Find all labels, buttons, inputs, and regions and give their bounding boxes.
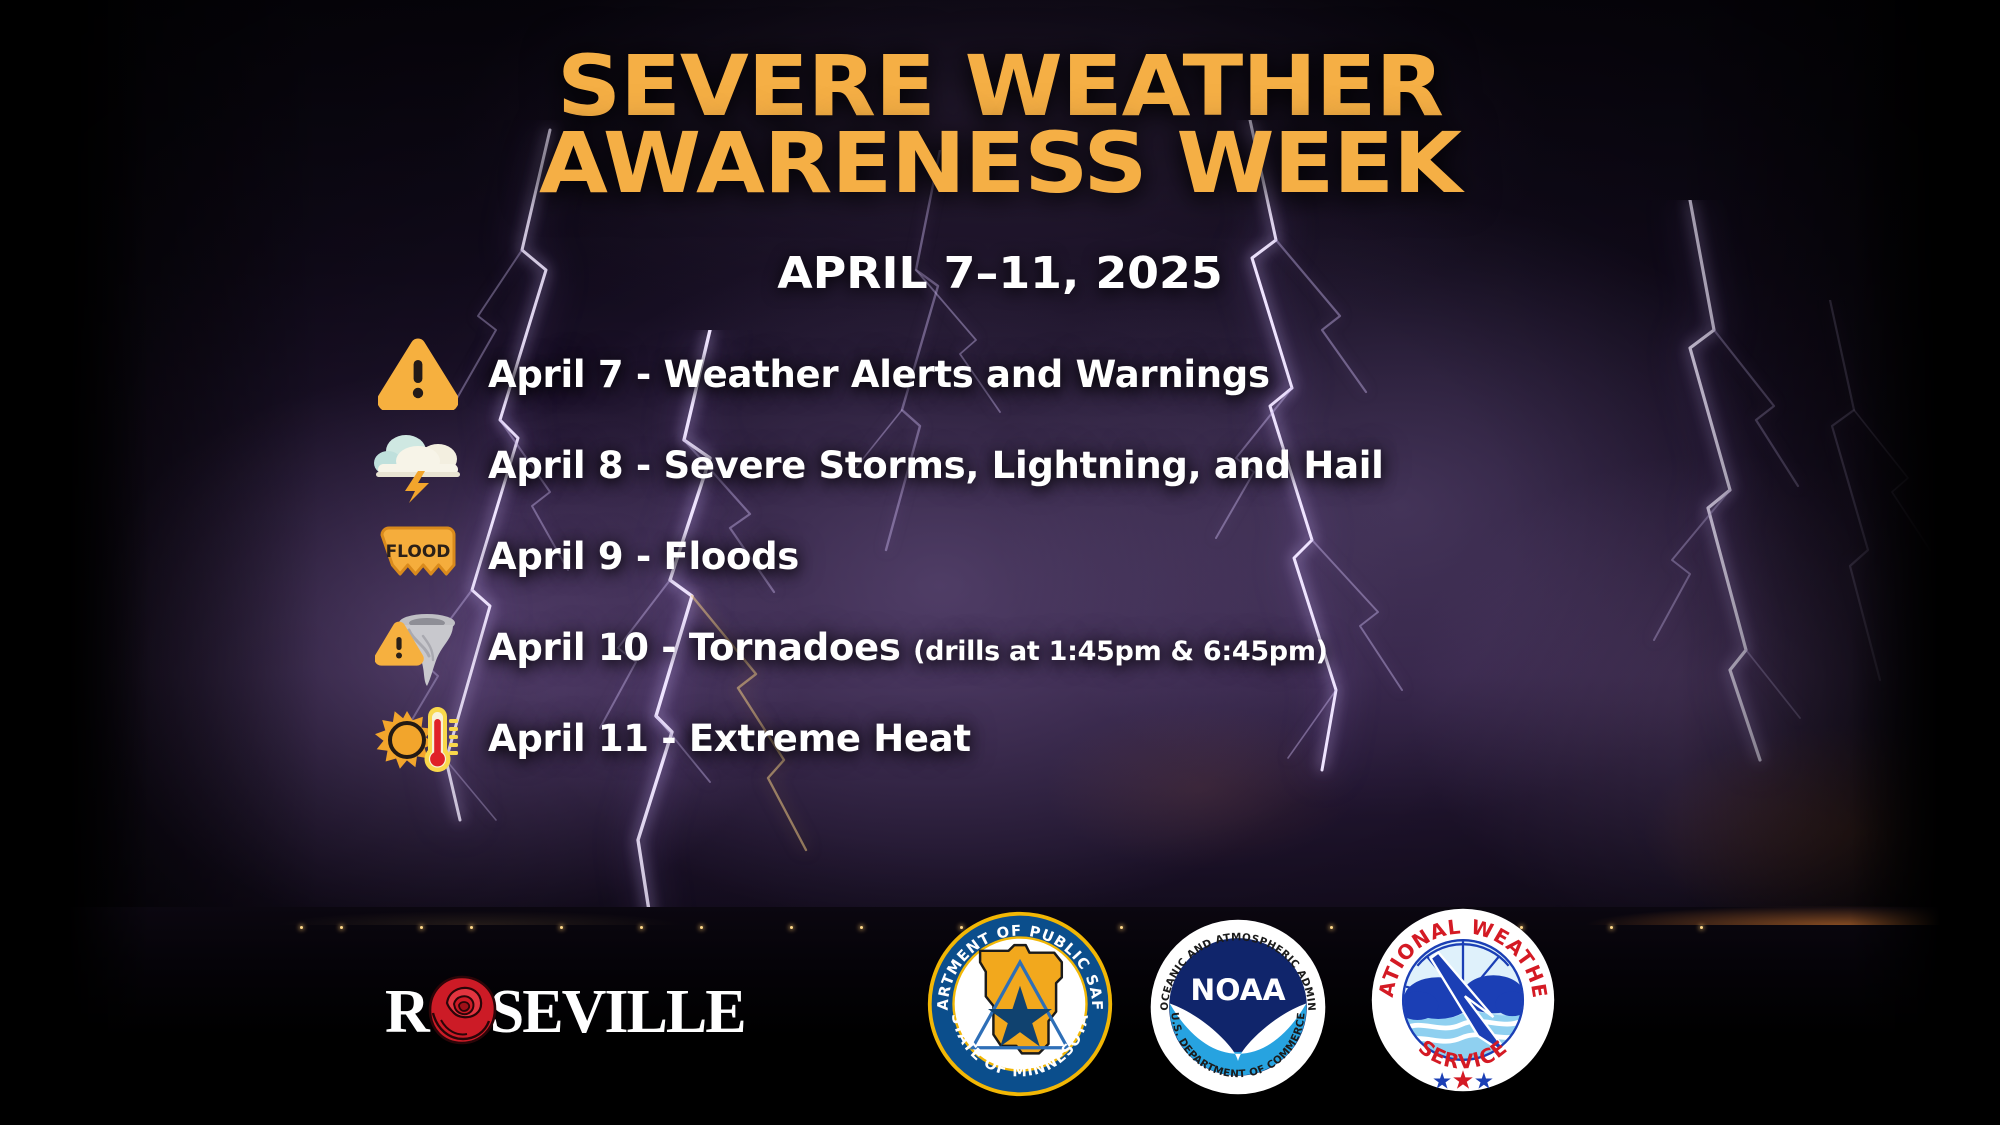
list-item-label: April 11 - Extreme Heat (466, 717, 971, 760)
schedule-list: April 7 - Weather Alerts and Warnings A (370, 330, 1550, 785)
poster-canvas: SEVERE WEATHER AWARENESS WEEK APRIL 7–11… (0, 0, 2000, 1125)
tornado-warning-icon (375, 606, 461, 688)
roseville-letters-seville: SEVILLE (490, 978, 745, 1046)
schedule-icon-slot (370, 699, 466, 777)
nws-seal-icon: NATIONAL WEATHER SERVICE (1368, 905, 1558, 1095)
schedule-icon-slot: FLOOD (370, 525, 466, 587)
schedule-icon-slot (370, 427, 466, 503)
headline-line-2: AWARENESS WEEK (0, 125, 2000, 202)
thermometer-icon (425, 707, 459, 772)
list-item-label: April 8 - Severe Storms, Lightning, and … (466, 444, 1384, 487)
list-item-label: April 9 - Floods (466, 535, 799, 578)
warning-triangle-icon (378, 338, 458, 410)
storm-cloud-lightning-icon (372, 427, 464, 503)
schedule-icon-slot (370, 338, 466, 410)
list-item: April 11 - Extreme Heat (370, 694, 1550, 782)
list-item-label: April 10 - Tornadoes (drills at 1:45pm &… (466, 626, 1328, 669)
list-item: April 10 - Tornadoes (drills at 1:45pm &… (370, 603, 1550, 691)
page-title: SEVERE WEATHER AWARENESS WEEK (0, 48, 2000, 203)
list-item-note: (drills at 1:45pm & 6:45pm) (913, 636, 1328, 667)
list-item-title: April 10 - Tornadoes (488, 626, 901, 669)
list-item: April 8 - Severe Storms, Lightning, and … (370, 421, 1550, 509)
list-item: FLOOD April 9 - Floods (370, 512, 1550, 600)
poster-content: SEVERE WEATHER AWARENESS WEEK APRIL 7–11… (0, 0, 2000, 1125)
list-item: April 7 - Weather Alerts and Warnings (370, 330, 1550, 418)
noaa-seal-icon: NOAA NATIONAL OCEANIC AND ATMOSPHERIC AD… (1148, 917, 1328, 1097)
flood-sign-label: FLOOD (386, 542, 451, 562)
dps-seal-icon: DEPARTMENT OF PUBLIC SAFETY STATE OF MIN… (925, 909, 1115, 1099)
noaa-center-text: NOAA (1190, 973, 1285, 1008)
dps-seal-logo[interactable]: DEPARTMENT OF PUBLIC SAFETY STATE OF MIN… (925, 909, 1115, 1099)
red-rose-icon (423, 973, 501, 1049)
date-range-subtitle: APRIL 7–11, 2025 (0, 248, 2000, 299)
flood-sign-icon: FLOOD (377, 525, 459, 587)
logo-bar: RSEVILLE (0, 895, 2000, 1125)
noaa-seal-logo[interactable]: NOAA NATIONAL OCEANIC AND ATMOSPHERIC AD… (1148, 917, 1328, 1097)
sun-thermometer-icon (374, 699, 462, 777)
schedule-icon-slot (370, 606, 466, 688)
nws-logo[interactable]: NATIONAL WEATHER SERVICE (1368, 905, 1558, 1095)
roseville-letter-r: R (385, 978, 428, 1046)
roseville-logo[interactable]: RSEVILLE (385, 977, 775, 1047)
list-item-label: April 7 - Weather Alerts and Warnings (466, 353, 1270, 396)
